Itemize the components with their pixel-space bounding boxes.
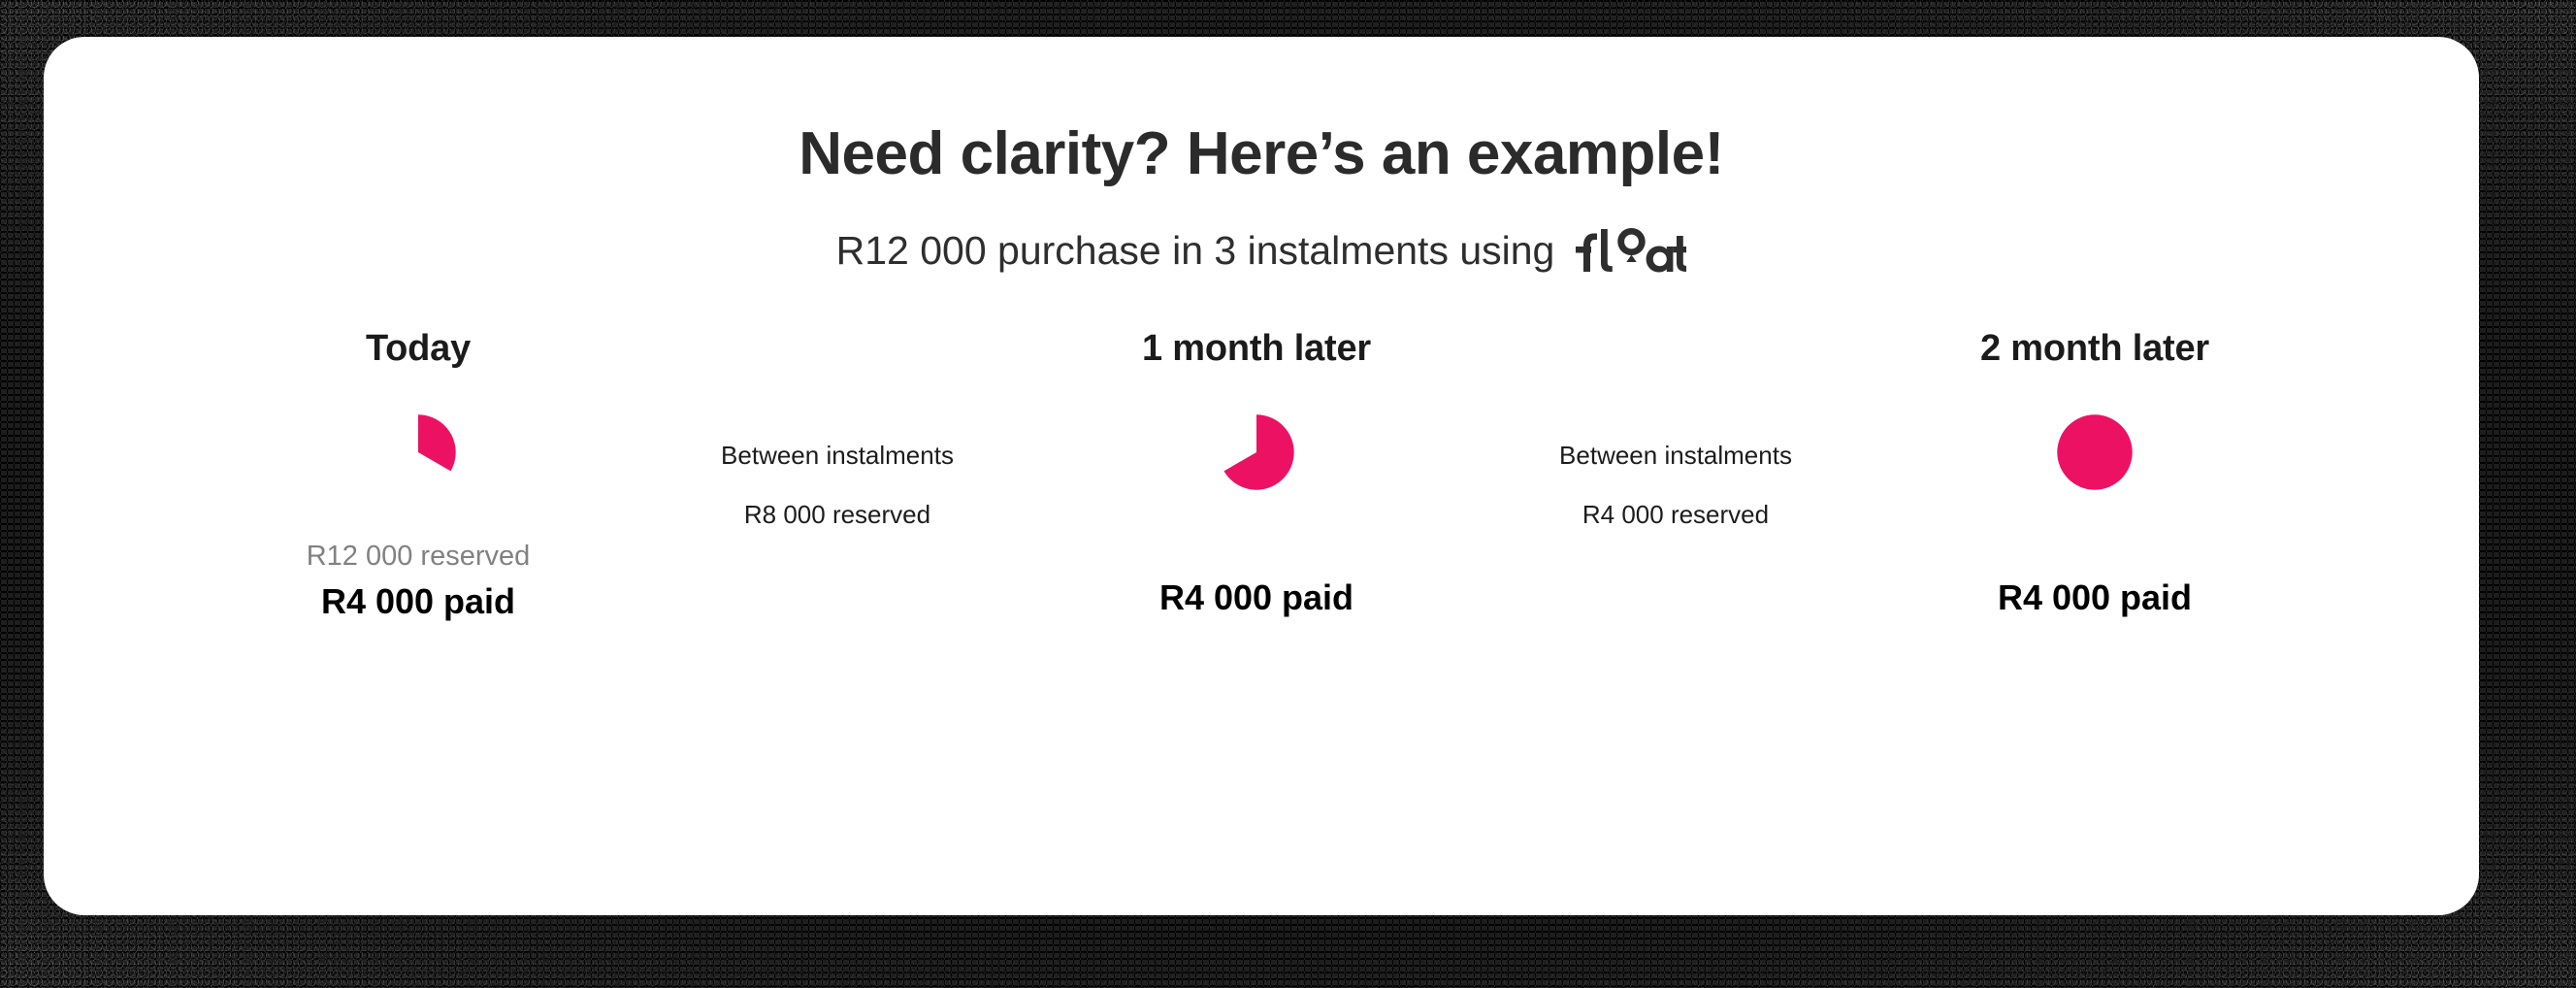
- stage-reserved-amount: R12 000 reserved: [307, 541, 531, 573]
- stage-paid-amount: R4 000 paid: [1998, 577, 2192, 618]
- pie-full-icon: [2053, 411, 2136, 494]
- gap-column-1: Between instalments R8 000 reserved: [628, 328, 1047, 530]
- stage-column-today: Today R12 000 reserved R4 000 paid: [209, 328, 628, 622]
- gap-reserved-amount: R8 000 reserved: [744, 500, 930, 530]
- example-card: Need clarity? Here’s an example! R12 000…: [44, 37, 2479, 915]
- stage-paid-amount: R4 000 paid: [1159, 577, 1353, 618]
- page-title: Need clarity? Here’s an example!: [799, 120, 1723, 187]
- gap-title: Between instalments: [1559, 441, 1792, 471]
- pie-two-thirds-icon: [1215, 411, 1298, 494]
- gap-column-2: Between instalments R4 000 reserved: [1466, 328, 1885, 530]
- subtitle-text: R12 000 purchase in 3 instalments using: [836, 228, 1555, 274]
- stage-heading: Today: [366, 328, 471, 370]
- subtitle: R12 000 purchase in 3 instalments using: [836, 228, 1687, 274]
- instalment-timeline: Today R12 000 reserved R4 000 paid Betwe…: [44, 328, 2479, 622]
- pie-one-third-icon: [376, 411, 460, 494]
- gap-title: Between instalments: [721, 441, 954, 471]
- stage-column-two-month: 2 month later R4 000 paid: [1885, 328, 2304, 618]
- stage-paid-amount: R4 000 paid: [321, 581, 515, 622]
- stage-column-one-month: 1 month later R4 000 paid: [1047, 328, 1466, 618]
- gap-reserved-amount: R4 000 reserved: [1582, 500, 1769, 530]
- stage-heading: 2 month later: [1980, 328, 2209, 370]
- stage-heading: 1 month later: [1142, 328, 1371, 370]
- float-logo-icon: [1572, 229, 1686, 274]
